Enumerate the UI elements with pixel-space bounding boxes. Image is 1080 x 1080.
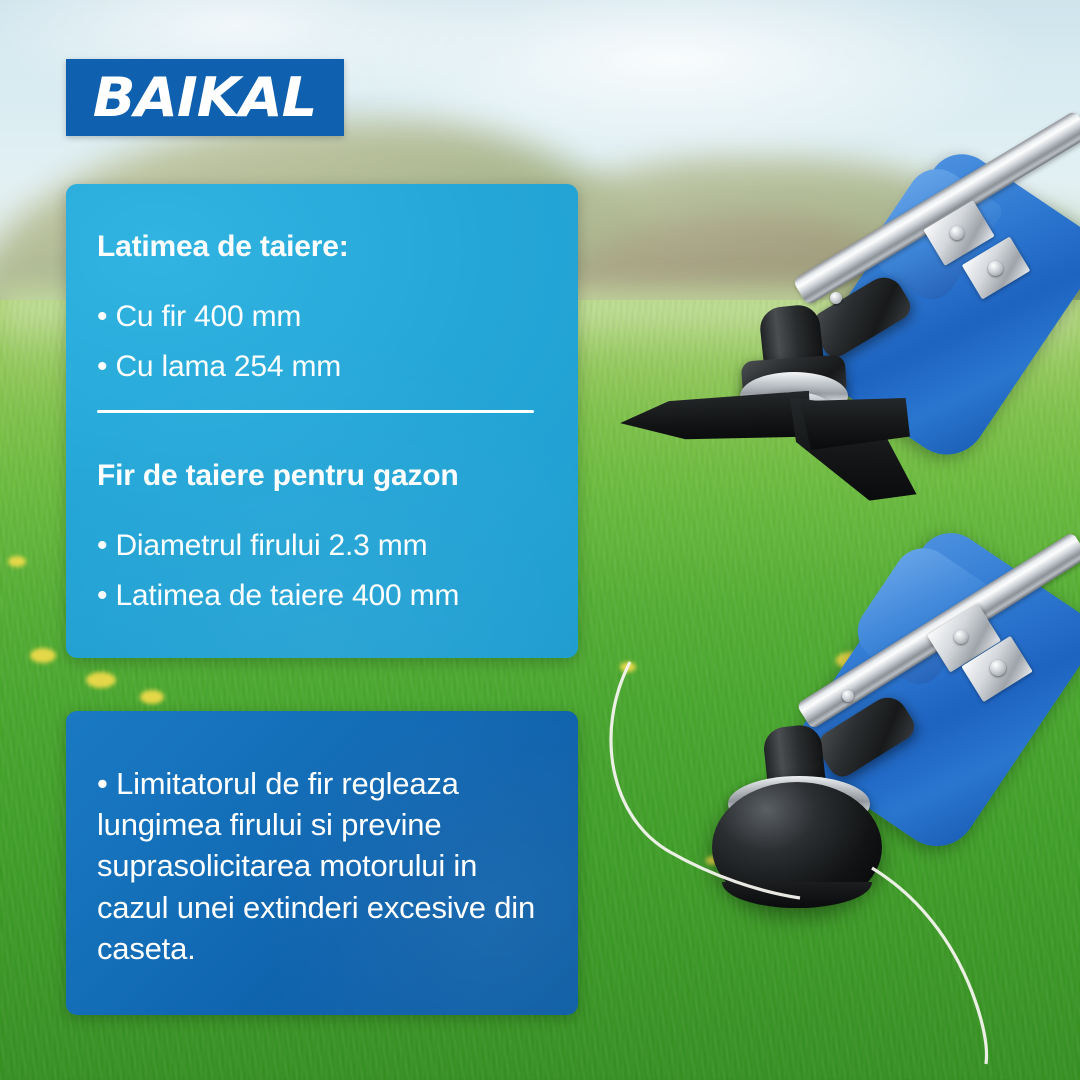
flower xyxy=(140,690,164,704)
spec-item-cutting-width-line: • Cu fir 400 mm xyxy=(97,300,301,334)
nylon-trimmer-line xyxy=(600,640,1080,1060)
clamp-bolt-upper-b xyxy=(988,261,1003,276)
specs-divider xyxy=(97,410,534,413)
spec-item-line-cutting-width: • Latimea de taiere 400 mm xyxy=(97,579,459,613)
specs-title: Latimea de taiere: xyxy=(97,230,349,264)
spec-item-cutting-width-blade: • Cu lama 254 mm xyxy=(97,350,341,384)
clamp-bolt-upper-a xyxy=(950,226,964,240)
gearbox-pin-upper xyxy=(830,292,842,304)
flower xyxy=(8,556,26,567)
specs-subtitle: Fir de taiere pentru gazon xyxy=(97,459,459,493)
specs-card: Latimea de taiere: • Cu fir 400 mm • Cu … xyxy=(66,184,578,658)
flower xyxy=(30,648,56,663)
note-card: • Limitatorul de fir regleaza lungimea f… xyxy=(66,711,578,1015)
spec-item-line-diameter: • Diametrul firului 2.3 mm xyxy=(97,529,427,563)
flower xyxy=(86,672,116,688)
product-infographic: BAIKAL Latimea de taiere: • Cu fir 400 m… xyxy=(0,0,1080,1080)
note-text: • Limitatorul de fir regleaza lungimea f… xyxy=(97,763,552,969)
brand-logo: BAIKAL xyxy=(66,59,344,136)
brand-logo-text: BAIKAL xyxy=(93,71,317,125)
